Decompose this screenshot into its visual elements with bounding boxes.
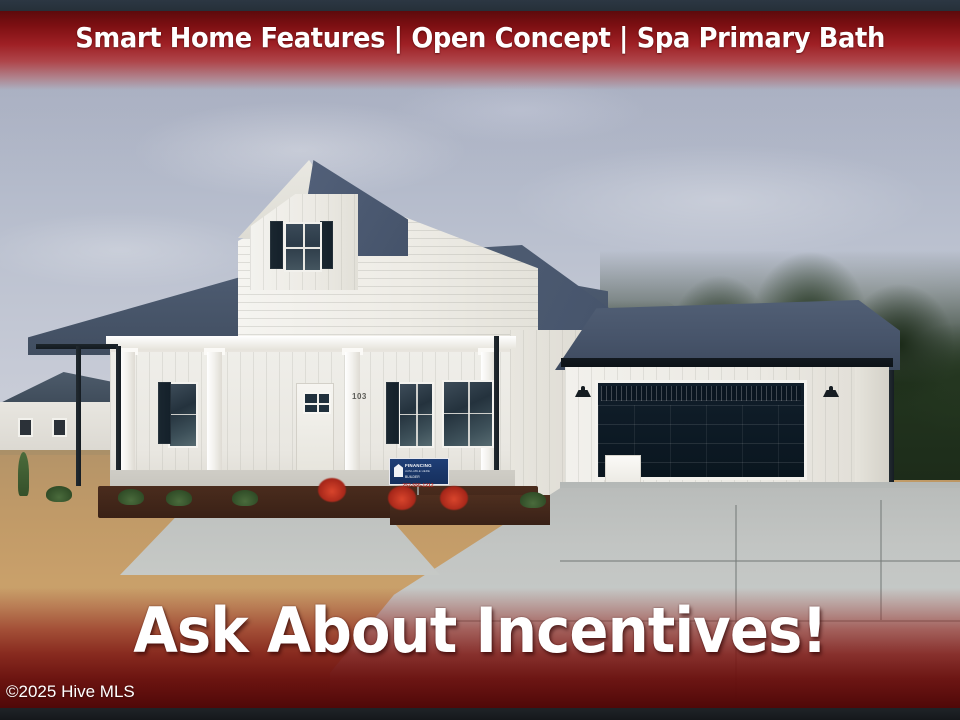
barn-light-right: [823, 386, 839, 397]
dormer-window: [284, 222, 322, 272]
sign-face: FINANCING AVAILABLE HERE BUILDER: [389, 458, 449, 485]
front-dormer: [238, 160, 408, 290]
sign-subtitle: AVAILABLE HERE: [405, 470, 430, 473]
barn-light-left: [575, 386, 591, 397]
porch-column: [207, 352, 222, 482]
window-shutter: [158, 382, 171, 444]
downspout-left: [76, 346, 81, 486]
door-window: [303, 392, 331, 414]
green-shrub: [520, 492, 546, 508]
front-window-right: [442, 380, 494, 448]
builder-logo-icon: [394, 464, 403, 477]
sign-title: FINANCING: [405, 464, 432, 469]
house-number: 103: [352, 392, 367, 401]
downspout-porch-left: [116, 346, 121, 484]
front-door: [296, 383, 334, 477]
garage-fascia: [561, 358, 893, 367]
green-shrub: [118, 489, 144, 505]
arborvitae-shrub: [18, 452, 29, 496]
top-edge-strip: [0, 0, 960, 11]
garage-side-wall: [855, 364, 889, 486]
financing-yard-sign: FINANCING AVAILABLE HERE BUILDER 252-555…: [389, 458, 447, 492]
bottom-edge-strip: [0, 708, 960, 720]
driveway-joint: [560, 560, 960, 562]
window-muntin: [303, 224, 305, 270]
red-shrub: [318, 478, 346, 502]
bottom-banner-text: Ask About Incentives!: [34, 600, 927, 662]
copyright-notice: ©2025 Hive MLS: [6, 682, 135, 702]
top-banner-text: Smart Home Features | Open Concept | Spa…: [75, 21, 885, 54]
listing-photo-card: 103: [0, 0, 960, 720]
green-shrub: [46, 486, 72, 502]
green-shrub: [232, 490, 258, 506]
sign-brand: BUILDER: [405, 476, 420, 479]
dormer-shutter-left: [270, 221, 283, 269]
porch-column: [120, 352, 135, 482]
front-window-left: [168, 382, 198, 448]
green-shrub: [166, 490, 192, 506]
top-banner: Smart Home Features | Open Concept | Spa…: [0, 11, 960, 90]
front-window-center: [398, 382, 434, 448]
sign-phone: 252-555-1212: [389, 483, 447, 490]
porch-column: [345, 352, 360, 482]
porch-beam: [106, 336, 516, 349]
bottom-banner: Ask About Incentives!: [0, 588, 960, 708]
window-shutter: [386, 382, 399, 444]
garage-door-windows: [601, 386, 801, 401]
